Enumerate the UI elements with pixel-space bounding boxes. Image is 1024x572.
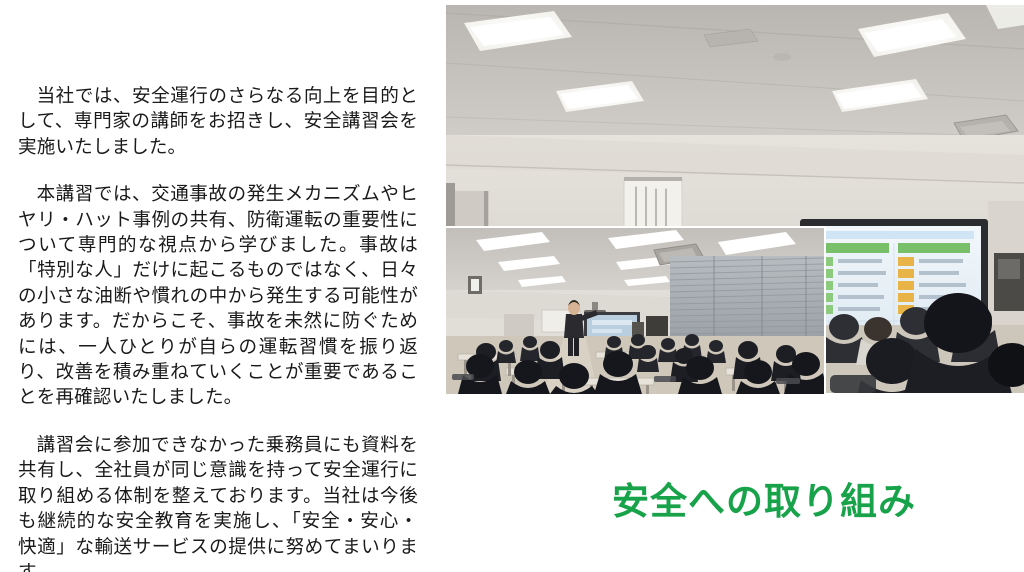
seminar-wide-illustration [446, 228, 824, 394]
page-title: 安全への取り組み [612, 481, 902, 524]
paragraph-2: 本講習では、交通事故の発生メカニズムやヒヤリ・ハット事例の共有、防衛運転の重要性… [18, 182, 418, 411]
slide-canvas: 当社では、安全運行のさらなる向上を目的として、専門家の講師をお招きし、安全講習会… [0, 0, 1024, 572]
paragraph-3: 講習会に参加できなかった乗務員にも資料を共有し、全社員が同じ意識を持って安全運行… [18, 433, 418, 572]
seminar-room-wide-view-photo [446, 228, 824, 394]
paragraph-1: 当社では、安全運行のさらなる向上を目的として、専門家の講師をお招きし、安全講習会… [18, 84, 418, 160]
body-text-block: 当社では、安全運行のさらなる向上を目的として、専門家の講師をお招きし、安全講習会… [18, 84, 418, 572]
